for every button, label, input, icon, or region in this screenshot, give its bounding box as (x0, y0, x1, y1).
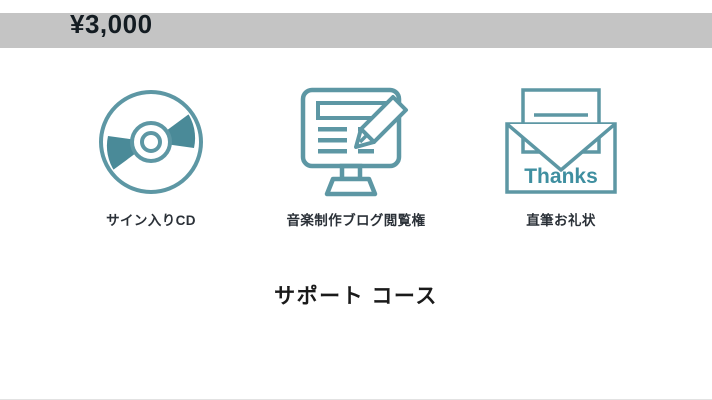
reward-list: サイン入りCD (0, 84, 712, 229)
monitor-blog-pencil-icon (286, 84, 426, 200)
envelope-thanks-text: Thanks (524, 165, 598, 188)
reward-label: サイン入りCD (106, 209, 196, 229)
reward-label: 直筆お礼状 (526, 209, 596, 229)
course-title: サポート コース (0, 280, 712, 310)
price-amount: ¥3,000 (70, 11, 153, 37)
reward-label: 音楽制作ブログ閲覧権 (287, 209, 426, 229)
reward-item-signed-cd: サイン入りCD (49, 84, 254, 229)
cd-disc-icon (95, 84, 207, 200)
thank-you-envelope-icon: Thanks (501, 84, 621, 200)
reward-item-thank-you-letter: Thanks 直筆お礼状 (459, 84, 664, 229)
reward-item-blog-access: 音楽制作ブログ閲覧権 (254, 84, 459, 229)
